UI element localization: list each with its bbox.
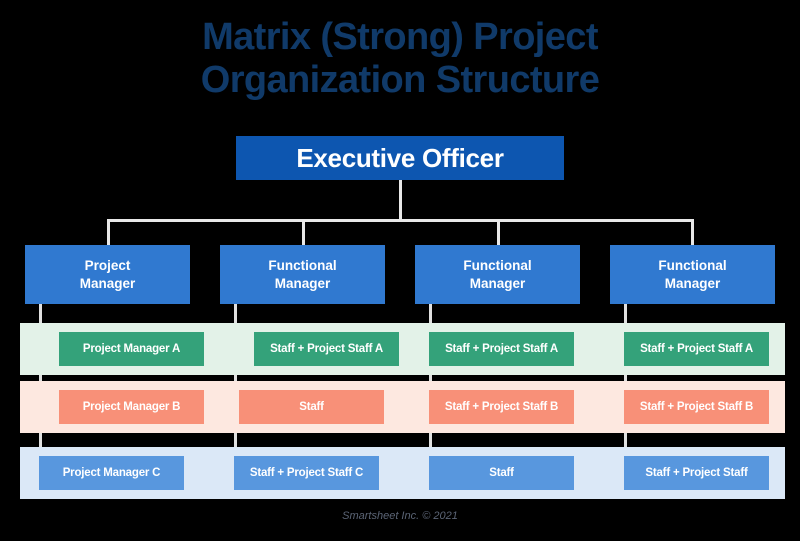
executive-officer-box[interactable]: Executive Officer — [236, 136, 564, 180]
connector-manager-drop-4 — [691, 219, 694, 245]
staff-box-r2-c2[interactable]: Staff — [239, 390, 384, 424]
staff-box-r1-c2[interactable]: Staff + Project Staff A — [254, 332, 399, 366]
staff-band-row-b: Project Manager B Staff Staff + Project … — [20, 381, 785, 433]
manager-row: Project Manager Functional Manager Funct… — [0, 245, 800, 304]
staff-band-row-a: Project Manager A Staff + Project Staff … — [20, 323, 785, 375]
manager-box-4[interactable]: Functional Manager — [610, 245, 775, 304]
connector-manager-drop-1 — [107, 219, 110, 245]
page-title: Matrix (Strong) Project Organization Str… — [0, 16, 800, 101]
staff-band-row-c: Project Manager C Staff + Project Staff … — [20, 447, 785, 499]
manager-box-2-line-2: Manager — [275, 275, 331, 293]
manager-box-3-line-1: Functional — [463, 257, 531, 275]
manager-box-2[interactable]: Functional Manager — [220, 245, 385, 304]
manager-box-2-line-1: Functional — [268, 257, 336, 275]
page-title-line-1: Matrix (Strong) Project — [0, 16, 800, 59]
page-title-line-2: Organization Structure — [0, 59, 800, 102]
connector-manager-drop-3 — [497, 219, 500, 245]
connector-horizontal-bar — [107, 219, 694, 222]
manager-box-1-line-2: Manager — [80, 275, 136, 293]
manager-box-1[interactable]: Project Manager — [25, 245, 190, 304]
staff-box-r3-c2[interactable]: Staff + Project Staff C — [234, 456, 379, 490]
manager-box-3[interactable]: Functional Manager — [415, 245, 580, 304]
manager-box-4-line-1: Functional — [658, 257, 726, 275]
footer-credit: Smartsheet Inc. © 2021 — [0, 510, 800, 522]
staff-box-r2-c4[interactable]: Staff + Project Staff B — [624, 390, 769, 424]
connector-manager-drop-2 — [302, 219, 305, 245]
manager-box-3-line-2: Manager — [470, 275, 526, 293]
staff-box-r2-c1[interactable]: Project Manager B — [59, 390, 204, 424]
staff-box-r1-c3[interactable]: Staff + Project Staff A — [429, 332, 574, 366]
staff-box-r1-c1[interactable]: Project Manager A — [59, 332, 204, 366]
manager-box-1-line-1: Project — [85, 257, 131, 275]
connector-executive-drop — [399, 180, 402, 221]
staff-box-r3-c3[interactable]: Staff — [429, 456, 574, 490]
manager-box-4-line-2: Manager — [665, 275, 721, 293]
staff-box-r2-c3[interactable]: Staff + Project Staff B — [429, 390, 574, 424]
staff-box-r3-c1[interactable]: Project Manager C — [39, 456, 184, 490]
staff-box-r1-c4[interactable]: Staff + Project Staff A — [624, 332, 769, 366]
staff-box-r3-c4[interactable]: Staff + Project Staff — [624, 456, 769, 490]
